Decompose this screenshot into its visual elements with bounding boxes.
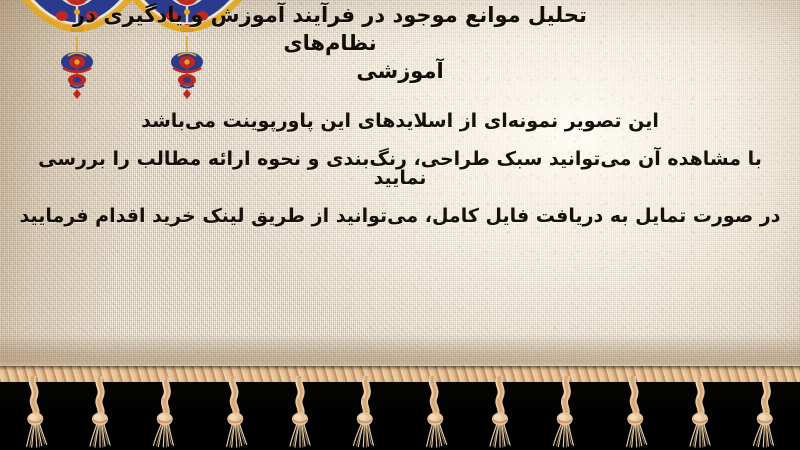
fringe-tassel xyxy=(552,376,582,448)
body-line-1: این تصویر نمونه‌ای از اسلایدهای این پاور… xyxy=(10,112,790,131)
fringe-black-backdrop xyxy=(0,374,800,450)
fringe-tassel xyxy=(485,376,515,448)
fringe-tassel xyxy=(218,376,248,448)
slide-title-line-2: آموزشی xyxy=(24,58,776,86)
slide-body: این تصویر نمونه‌ای از اسلایدهای این پاور… xyxy=(10,112,790,226)
fringe-tassel xyxy=(18,376,48,448)
slide-title-line-1: تحلیل موانع موجود در فرآیند آموزش و یادگ… xyxy=(24,2,776,58)
fringe-tassel xyxy=(685,376,715,448)
slide-text-layer: تحلیل موانع موجود در فرآیند آموزش و یادگ… xyxy=(0,0,800,386)
fringe-tassel xyxy=(152,376,182,448)
fringe-tassel xyxy=(618,376,648,448)
body-line-2: با مشاهده آن می‌توانید سبک طراحی، رنگ‌بن… xyxy=(10,150,790,188)
carpet-fringe xyxy=(0,352,800,450)
fringe-tassel xyxy=(85,376,115,448)
fringe-tassel xyxy=(352,376,382,448)
fringe-tassel xyxy=(752,376,782,448)
fringe-cord xyxy=(0,366,800,382)
fringe-tassel xyxy=(418,376,448,448)
body-line-3: در صورت تمایل به دریافت فایل کامل، می‌تو… xyxy=(10,207,790,226)
slide-title: تحلیل موانع موجود در فرآیند آموزش و یادگ… xyxy=(24,2,776,86)
fringe-tassel xyxy=(285,376,315,448)
presentation-slide: تحلیل موانع موجود در فرآیند آموزش و یادگ… xyxy=(0,0,800,450)
